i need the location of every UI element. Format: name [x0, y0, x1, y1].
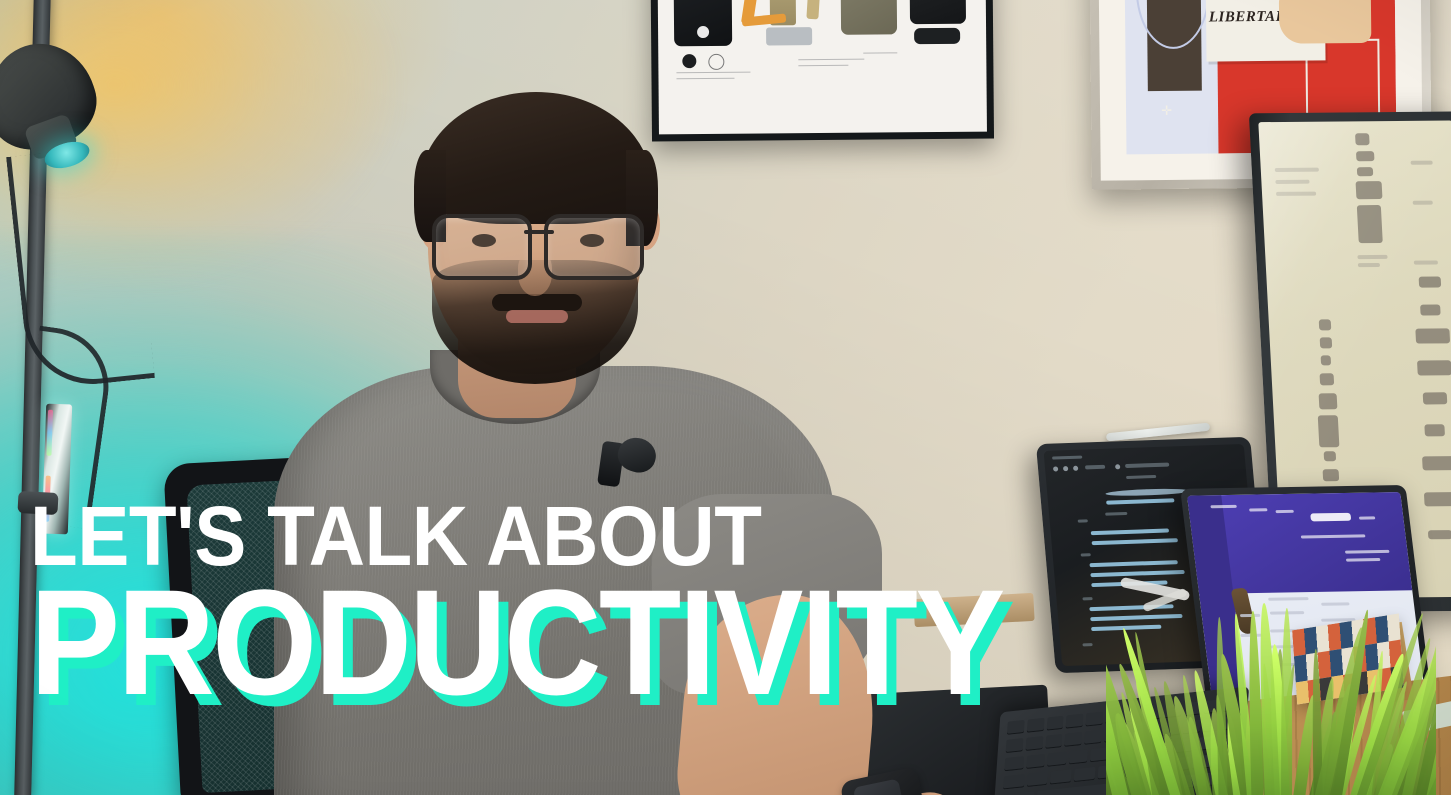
video-thumbnail-frame: EDUCAR PARA LIBERTAR ✛: [0, 0, 1451, 795]
glasses-lens-right: [544, 214, 644, 280]
led-bar-clamp: [17, 491, 58, 515]
glasses-bridge: [524, 230, 554, 234]
mouth: [506, 310, 568, 323]
rgb-led-bar: [42, 404, 73, 535]
eyeglasses: [432, 214, 644, 276]
subject-person: [196, 74, 896, 795]
mustache: [492, 294, 582, 311]
poster-text-line-3: LIBERTAR: [1209, 9, 1287, 27]
glasses-lens-left: [432, 214, 532, 280]
grass-blade: [1281, 608, 1293, 795]
foreground-grass-plant: [1106, 596, 1436, 795]
hair: [420, 92, 652, 224]
lavalier-microphone: [600, 438, 654, 486]
